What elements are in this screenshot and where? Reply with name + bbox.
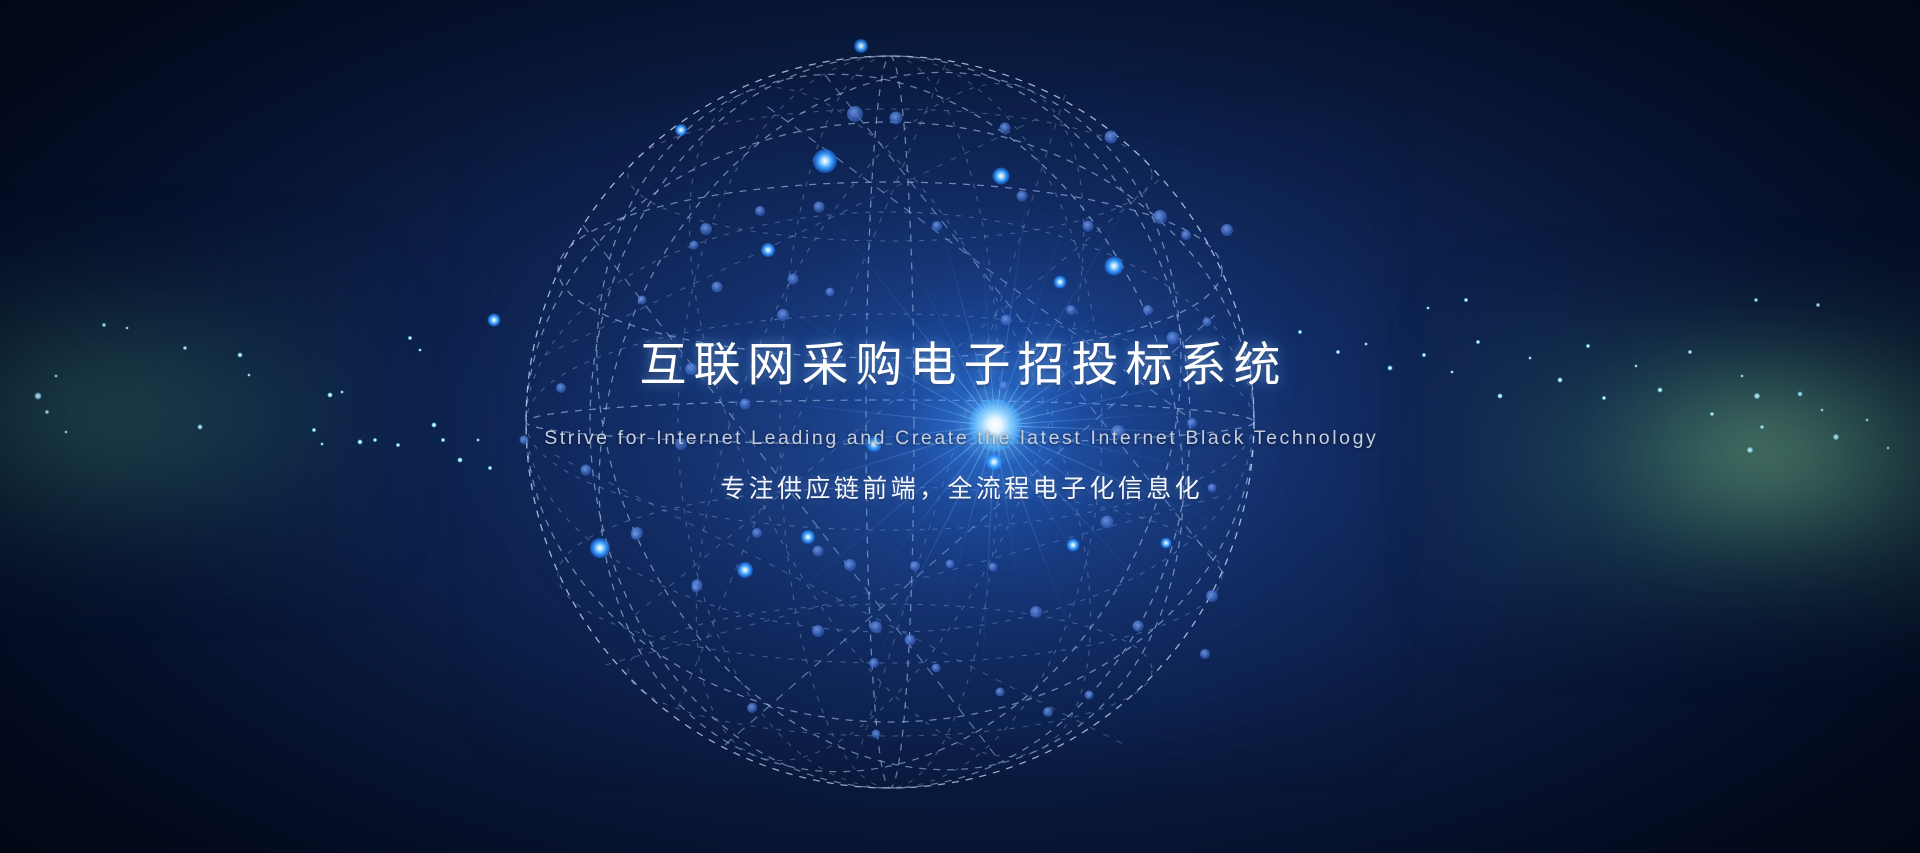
page-title: 互联网采购电子招投标系统 (0, 340, 1920, 390)
hero-tagline-chinese: 专注供应链前端，全流程电子化信息化 (0, 474, 1920, 505)
hero-banner: 互联网采购电子招投标系统 Strive for Internet Leading… (0, 0, 1920, 853)
hero-copy: 互联网采购电子招投标系统 Strive for Internet Leading… (0, 340, 1920, 505)
hero-subtitle-english: Strive for Internet Leading and Create t… (0, 426, 1920, 450)
